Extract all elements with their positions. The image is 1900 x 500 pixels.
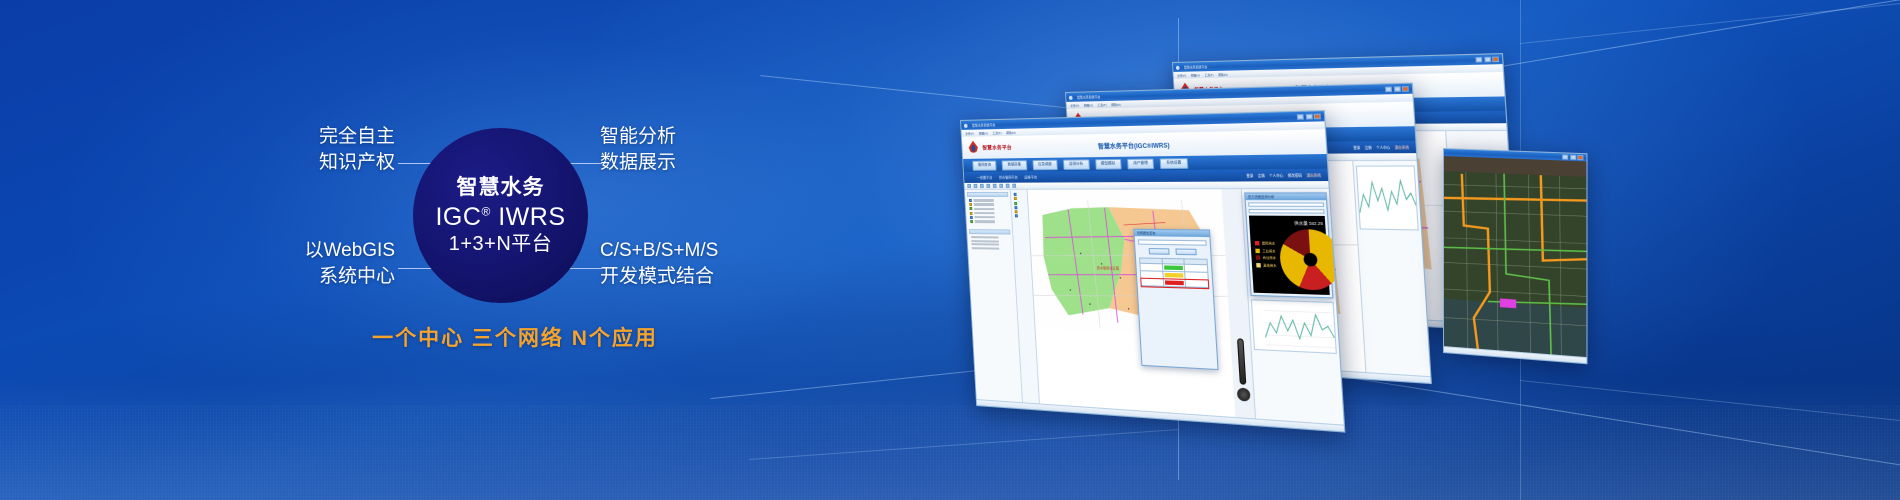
grid-line — [1520, 380, 1900, 423]
dialog-title: 管网属性查询 — [1137, 231, 1156, 235]
window-controls[interactable] — [1385, 86, 1409, 92]
maximize-icon[interactable] — [1484, 57, 1491, 63]
session-link[interactable]: 登录 — [1353, 145, 1360, 151]
grid-line — [749, 429, 1178, 460]
window-front[interactable]: 智慧水务系统平台 文件(F) 视图(V) 工具(T) 帮助(H) 智慧水务平台 … — [960, 110, 1345, 433]
nav-item[interactable]: 模型模拟 — [1095, 158, 1122, 169]
session-link[interactable]: 修改密码 — [1288, 172, 1303, 178]
nav-item[interactable]: 管网查询 — [972, 160, 997, 170]
menu-item[interactable]: 视图(V) — [979, 131, 988, 135]
subnav-item[interactable]: 供水管网平台 — [999, 175, 1018, 180]
clear-button[interactable] — [1176, 249, 1197, 256]
tree-item[interactable] — [971, 243, 1011, 246]
filter-input[interactable] — [1249, 209, 1325, 214]
titlebar-caption: 智慧水务系统平台 — [972, 122, 996, 128]
water-drop-logo-icon — [967, 141, 979, 155]
tool-icon[interactable] — [1015, 210, 1018, 213]
menu-item[interactable]: 文件(F) — [1177, 73, 1186, 77]
center-badge: 智慧水务 IGC® IWRS 1+3+N平台 — [413, 128, 588, 303]
feature-line: 系统中心 — [245, 264, 395, 290]
tool-icon[interactable] — [1014, 202, 1017, 205]
legend-table — [1139, 258, 1209, 289]
feature-bottom-left: 以WebGIS 系统中心 — [245, 238, 395, 289]
titlebar-caption: 智慧水务系统平台 — [1184, 64, 1208, 70]
window-icon — [1176, 65, 1180, 69]
tree-item[interactable] — [969, 207, 1009, 210]
info-panel[interactable] — [1352, 161, 1431, 383]
panel-header — [969, 229, 1011, 235]
legend-item: 其他用水 — [1256, 263, 1276, 268]
zoom-out-tool-icon[interactable] — [986, 184, 990, 188]
legend-swatch-red — [1165, 281, 1184, 286]
session-link[interactable]: 登录 — [1246, 173, 1253, 179]
tree-item[interactable] — [972, 247, 1012, 250]
feature-line: C/S+B/S+M/S — [600, 238, 785, 264]
menu-item[interactable]: 工具(T) — [1097, 103, 1106, 107]
layer-swatch-icon — [969, 199, 972, 202]
menu-item[interactable]: 帮助(H) — [1111, 102, 1121, 106]
print-tool-icon[interactable] — [1006, 184, 1010, 188]
close-icon[interactable] — [1492, 56, 1499, 62]
tree-item[interactable] — [971, 240, 1011, 243]
minimize-icon[interactable] — [1475, 57, 1482, 63]
pie-title: 供水量 532.25 — [1294, 220, 1323, 227]
trend-chart-canvas — [1357, 167, 1418, 230]
layer-tool-icon[interactable] — [1012, 184, 1016, 188]
minimize-icon[interactable] — [1385, 86, 1392, 92]
window-icon — [1069, 95, 1073, 99]
subnav-item[interactable]: 运维平台 — [1024, 174, 1037, 179]
legend-item: 工业用水 — [1256, 248, 1276, 253]
legend-swatch-yellow — [1164, 273, 1183, 278]
tool-icon[interactable] — [1015, 206, 1018, 209]
nav-item[interactable]: 监测分析 — [1063, 159, 1089, 170]
dialog-buttons[interactable] — [1139, 248, 1207, 256]
tree-item[interactable] — [971, 236, 1011, 239]
menu-item[interactable]: 帮助(H) — [1006, 130, 1016, 134]
session-links[interactable]: 登录 注销 个人中心 退出系统 — [1353, 144, 1409, 150]
maximize-icon[interactable] — [1393, 86, 1400, 92]
feature-line: 数据展示 — [600, 150, 780, 176]
tool-row[interactable] — [1015, 214, 1027, 217]
layer-swatch-icon — [969, 203, 972, 206]
legend-item: 商业用水 — [1256, 256, 1276, 261]
panel-header — [967, 192, 1009, 197]
window-controls[interactable] — [1297, 114, 1321, 120]
maximize-icon[interactable] — [1305, 114, 1312, 120]
chart-dialog[interactable]: 压力流量监测分析 居民用水 工业用水 商业用水 — [1244, 192, 1333, 298]
tool-row[interactable] — [1015, 206, 1027, 209]
menu-item[interactable]: 视图(V) — [1191, 73, 1200, 77]
legend-swatch-green — [1164, 266, 1183, 271]
session-link[interactable]: 注销 — [1364, 145, 1371, 151]
close-icon[interactable] — [1402, 86, 1409, 92]
brand-name: 智慧水务平台 — [982, 144, 1012, 152]
session-link[interactable]: 个人中心 — [1269, 172, 1283, 178]
svg-text:供水管网分区图: 供水管网分区图 — [1097, 265, 1120, 271]
feature-line: 完全自主 — [245, 124, 395, 150]
tool-icon[interactable] — [1015, 214, 1018, 217]
titlebar-caption: 智慧水务系统平台 — [1077, 94, 1101, 100]
close-icon[interactable] — [1577, 155, 1583, 160]
zoom-slider[interactable] — [1237, 338, 1246, 385]
pie-legend: 居民用水 工业用水 商业用水 其他用水 — [1255, 241, 1276, 267]
identify-tool-icon[interactable] — [999, 184, 1003, 188]
line-chart — [1251, 299, 1337, 354]
pointer-tool-icon[interactable] — [967, 184, 971, 188]
selected-parcel — [1500, 298, 1516, 308]
tagline: 一个中心 三个网络 N个应用 — [245, 322, 785, 352]
badge-line-2: IGC® IWRS — [435, 203, 565, 231]
feature-line: 智能分析 — [600, 124, 780, 150]
menu-item[interactable]: 视图(V) — [1084, 103, 1093, 107]
badge-line-3: 1+3+N平台 — [449, 233, 553, 255]
feature-top-left: 完全自主 知识产权 — [245, 124, 395, 175]
layer-swatch-icon — [970, 216, 973, 219]
subnav-item[interactable]: 一张图平台 — [977, 175, 993, 180]
layer-swatch-icon — [970, 212, 973, 215]
window-map[interactable] — [1443, 148, 1587, 364]
menu-item[interactable]: 工具(T) — [1204, 73, 1213, 77]
measure-tool-icon[interactable] — [993, 184, 997, 188]
feature-line: 以WebGIS — [245, 238, 395, 264]
pie-panel: 居民用水 工业用水 商业用水 其他用水 供水量 532.25 — [1249, 216, 1330, 295]
tool-row[interactable] — [1014, 197, 1026, 200]
session-link[interactable]: 退出系统 — [1394, 144, 1409, 150]
dialog-body[interactable] — [1135, 237, 1212, 292]
nav-item[interactable]: 用户管理 — [1127, 158, 1154, 169]
session-link[interactable]: 注销 — [1258, 173, 1265, 179]
app-title: 智慧水务平台(IGC®IWRS) — [1098, 140, 1170, 151]
tool-row[interactable] — [1015, 210, 1027, 213]
window-icon — [964, 123, 968, 127]
query-input[interactable] — [1138, 240, 1206, 246]
layer-swatch-icon — [970, 220, 973, 223]
nav-item[interactable]: 系统设置 — [1160, 158, 1188, 169]
filter-input[interactable] — [1248, 202, 1324, 207]
minimize-icon[interactable] — [1297, 114, 1304, 120]
nav-item[interactable]: 应急调度 — [1032, 159, 1058, 170]
maximize-icon[interactable] — [1570, 155, 1576, 160]
legend-item: 居民用水 — [1255, 241, 1275, 246]
tool-icon[interactable] — [1014, 193, 1017, 196]
dialog-title: 压力流量监测分析 — [1248, 195, 1275, 199]
feature-bottom-right: C/S+B/S+M/S 开发模式结合 — [600, 238, 785, 289]
feature-top-right: 智能分析 数据展示 — [600, 124, 780, 175]
tool-icon[interactable] — [1014, 197, 1017, 200]
tool-row[interactable] — [1014, 193, 1026, 196]
floor-texture — [0, 405, 1900, 500]
trend-chart — [1355, 165, 1418, 230]
session-links[interactable]: 登录 注销 个人中心 修改密码 退出系统 — [1246, 172, 1321, 178]
banner-stage: 智慧水务系统平台 文件(F) 视图(V) 工具(T) 帮助(H) 智慧水务平台 … — [0, 0, 1900, 500]
map-view[interactable]: 供水管网分区图 管网属性查询 — [1028, 189, 1236, 417]
street-map-view[interactable] — [1444, 156, 1587, 357]
menu-item[interactable]: 工具(T) — [992, 131, 1001, 135]
pan-tool-icon[interactable] — [974, 184, 978, 188]
query-button[interactable] — [1149, 248, 1170, 255]
menu-item[interactable]: 文件(F) — [965, 131, 974, 135]
window-controls[interactable] — [1562, 154, 1583, 160]
session-link[interactable]: 个人中心 — [1376, 144, 1390, 150]
menu-item[interactable]: 文件(F) — [1070, 103, 1079, 107]
table-row[interactable] — [1141, 279, 1208, 288]
badge-line-1: 智慧水务 — [457, 176, 545, 200]
line-chart-canvas — [1252, 300, 1335, 352]
tool-row[interactable] — [1014, 202, 1026, 205]
tree-item[interactable] — [969, 199, 1009, 202]
tree-item[interactable] — [970, 220, 1010, 223]
session-link[interactable]: 退出系统 — [1306, 172, 1321, 178]
query-dialog[interactable]: 管网属性查询 — [1134, 229, 1219, 370]
street-map-canvas — [1444, 156, 1587, 357]
minimize-icon[interactable] — [1562, 154, 1568, 159]
analytics-panel[interactable]: 压力流量监测分析 居民用水 工业用水 商业用水 — [1241, 189, 1344, 425]
tree-item[interactable] — [970, 216, 1010, 219]
window-controls[interactable] — [1475, 56, 1499, 62]
zoom-in-tool-icon[interactable] — [980, 184, 984, 188]
pan-dpad-icon[interactable] — [1237, 388, 1251, 402]
nav-item[interactable]: 数据采集 — [1002, 160, 1027, 170]
floor-glow — [0, 380, 1900, 500]
menu-item[interactable]: 帮助(H) — [1218, 72, 1228, 76]
close-icon[interactable] — [1314, 114, 1321, 120]
grid-line — [1520, 1, 1900, 44]
layer-swatch-icon — [969, 207, 972, 210]
feature-line: 知识产权 — [245, 150, 395, 176]
dialog-body[interactable]: 居民用水 工业用水 商业用水 其他用水 供水量 532.25 — [1246, 200, 1332, 297]
tree-item[interactable] — [970, 212, 1010, 215]
feature-line: 开发模式结合 — [600, 264, 785, 290]
tree-item[interactable] — [969, 203, 1009, 206]
